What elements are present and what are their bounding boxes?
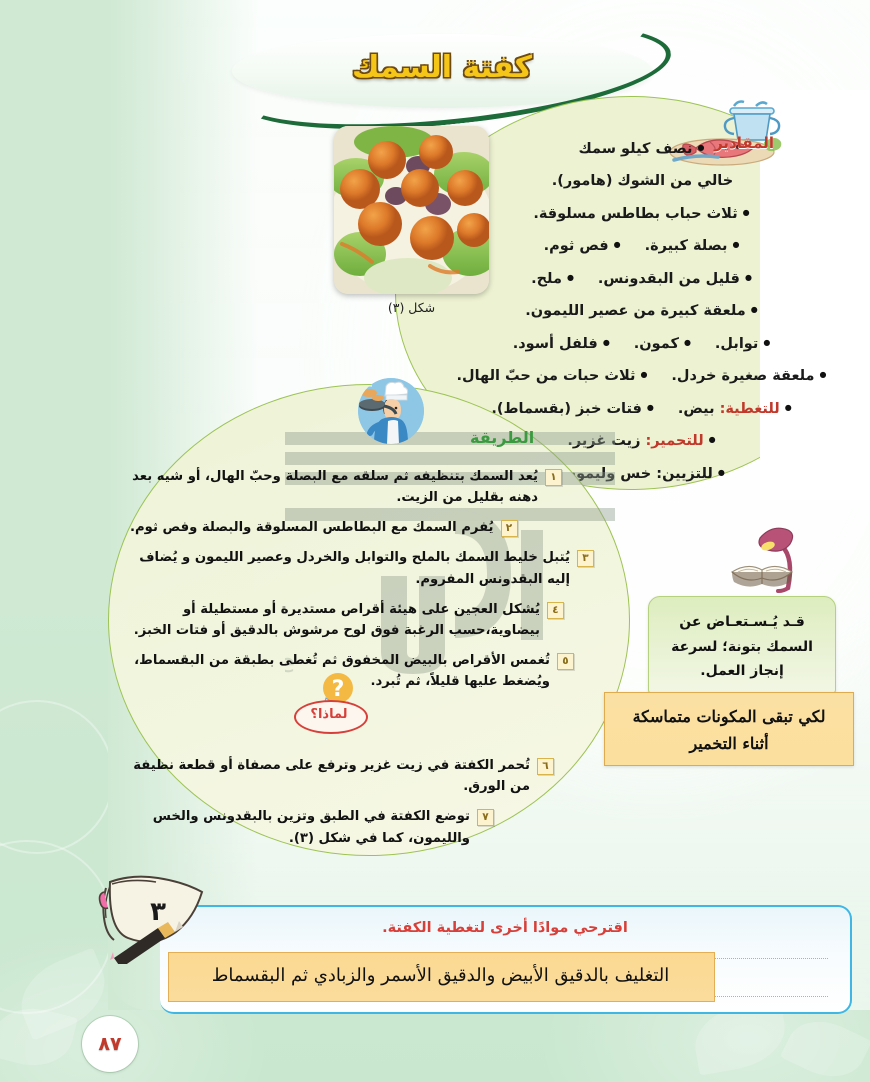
ingredient-item: نصف كيلو سمك	[579, 141, 707, 157]
ingredient-item: كمون.	[634, 333, 693, 355]
ingredient-item: ملح.	[531, 268, 576, 290]
ingredient-line: خالي من الشوك (هامور).	[445, 170, 840, 192]
ingredient-line: ملعقة كبيرة من عصير الليمون.	[445, 300, 840, 322]
ingredient-line: نصف كيلو سمك	[445, 138, 840, 160]
ingredient-item: توابل.	[715, 333, 772, 355]
leaf-decoration	[780, 1008, 870, 1082]
ingredient-item: ملعقة صغيرة خردل.	[671, 365, 828, 387]
ingredient-line: بصلة كبيرة.فص ثوم.	[445, 235, 840, 257]
method-step-text: يُفرم السمك مع البطاطس المسلوقة والبصلة …	[130, 517, 494, 538]
green-note: قـد يُـسـتعـاض عن السمك بتونة؛ لسرعة إنج…	[648, 596, 836, 694]
ingredient-category-label: للتحمير:	[640, 433, 703, 449]
method-step-text: توضع الكفتة في الطبق وتزين بالبقدونس وال…	[130, 806, 470, 848]
method-step-text: تُحمر الكفتة في زيت غزير وترفع على مصفاة…	[130, 755, 530, 797]
method-step-number: ١	[545, 469, 562, 486]
method-step: ٦تُحمر الكفتة في زيت غزير وترفع على مصفا…	[130, 755, 610, 797]
activity-number: ٣	[150, 897, 166, 927]
ingredient-item: للتحمير: زيت غزير.	[567, 433, 717, 449]
ingredient-item: فلفل أسود.	[513, 333, 612, 355]
method-step-number: ٦	[537, 758, 554, 775]
orange-note: لكي تبقى المكونات متماسكة أثناء التخمير	[604, 692, 854, 766]
ingredient-item: ثلاث حبات من حبّ الهال.	[456, 365, 649, 387]
orange-note-text: لكي تبقى المكونات متماسكة أثناء التخمير	[605, 693, 853, 757]
ingredient-line: قليل من البقدونس.ملح.	[445, 268, 840, 290]
method-step-number: ٢	[501, 520, 518, 537]
ingredient-item: قليل من البقدونس.	[598, 268, 754, 290]
method-step: ٣يُتبل خليط السمك بالملح والتوابل والخرد…	[130, 547, 610, 589]
answer-text[interactable]: التغليف بالدقيق الأبيض والدقيق الأسمر وا…	[168, 952, 713, 1000]
green-note-text: قـد يُـسـتعـاض عن السمك بتونة؛ لسرعة إنج…	[649, 597, 835, 684]
ingredient-item: ملعقة كبيرة من عصير الليمون.	[525, 303, 759, 319]
desk-lamp-and-open-book-icon	[726, 522, 806, 596]
method-step-number: ٤	[547, 602, 564, 619]
figure-caption: شكل (٣)	[334, 300, 489, 315]
method-step-number: ٣	[577, 550, 594, 567]
chef-cooking-icon	[358, 378, 424, 444]
ingredient-item: خالي من الشوك (هامور).	[552, 173, 733, 189]
ingredient-line: ثلاث حباب بطاطس مسلوقة.	[445, 203, 840, 225]
why-badge: ? لماذا؟	[294, 684, 370, 732]
method-heading: الطريقة	[470, 428, 534, 447]
leaf-decoration	[0, 999, 78, 1074]
method-step: ١يُعد السمك بتنظيفه ثم سلقه مع البصلة وح…	[130, 466, 610, 508]
notepad-and-pencil-icon: ٣	[96, 872, 212, 964]
ingredient-item: ثلاث حباب بطاطس مسلوقة.	[533, 206, 751, 222]
ingredient-line: للتغطية: بيض.فتات خبز (بقسماط).	[445, 398, 840, 420]
textbook-page: كفتة السمك المقادير نصف كيلو سمكخالي من …	[0, 0, 870, 1082]
ingredient-line: ملعقة صغيرة خردل.ثلاث حبات من حبّ الهال.	[445, 365, 840, 387]
activity-prompt: اقترحي موادًا أخرى لتغطية الكفتة.	[160, 920, 850, 936]
page-title: كفتة السمك	[232, 50, 652, 85]
why-badge-label: لماذا؟	[294, 700, 364, 730]
method-steps: ١يُعد السمك بتنظيفه ثم سلقه مع البصلة وح…	[130, 466, 610, 858]
method-step-text: يُشكل العجين على هيئة أقراص مستديرة أو م…	[130, 599, 540, 641]
page-number: ٨٧	[82, 1016, 138, 1072]
ingredient-category-label: للتغطية:	[715, 401, 780, 417]
method-step-text: يُتبل خليط السمك بالملح والتوابل والخردل…	[130, 547, 570, 589]
ingredient-item: فتات خبز (بقسماط).	[491, 398, 656, 420]
method-step-text: يُعد السمك بتنظيفه ثم سلقه مع البصلة وحب…	[130, 466, 538, 508]
dish-photo	[334, 126, 489, 294]
ingredient-item: فص ثوم.	[544, 235, 623, 257]
method-step-number: ٧	[477, 809, 494, 826]
swirl-decoration	[0, 700, 114, 854]
method-step-number: ٥	[557, 653, 574, 670]
method-step: ٤يُشكل العجين على هيئة أقراص مستديرة أو …	[130, 599, 610, 641]
ingredient-item: للتغطية: بيض.	[678, 398, 794, 420]
svg-text:?: ?	[332, 677, 345, 702]
method-step: ٢يُفرم السمك مع البطاطس المسلوقة والبصلة…	[130, 517, 610, 538]
method-step: ٧توضع الكفتة في الطبق وتزين بالبقدونس وا…	[130, 806, 610, 848]
ingredient-item: بصلة كبيرة.	[645, 235, 742, 257]
ingredient-line: توابل.كمون.فلفل أسود.	[445, 333, 840, 355]
